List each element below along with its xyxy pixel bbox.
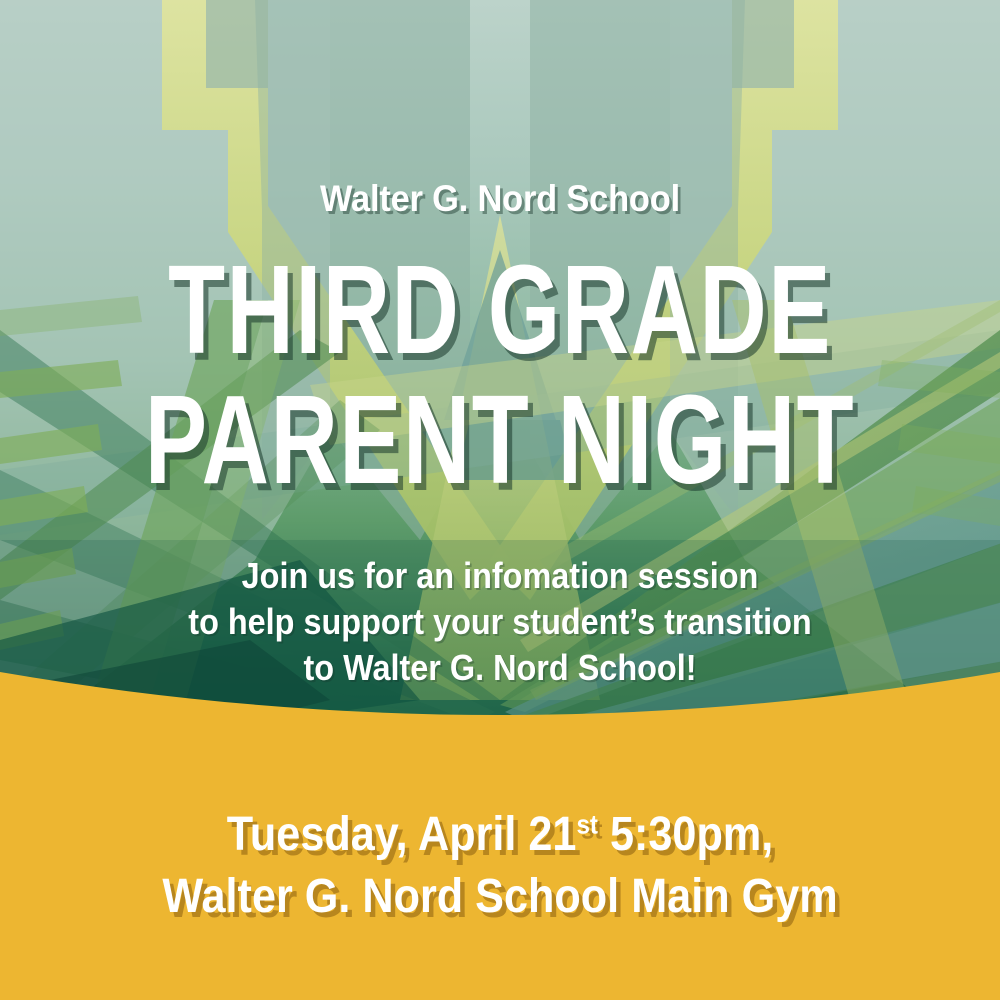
event-time: 5:30pm, — [598, 808, 773, 861]
description-line-1: Join us for an infomation session — [50, 553, 950, 599]
description-line-2: to help support your student’s transitio… — [50, 599, 950, 645]
event-location: Walter G. Nord School Main Gym — [50, 868, 950, 926]
event-flyer: Walter G. Nord School THIRD GRADE PARENT… — [0, 0, 1000, 1000]
event-date: Tuesday, April 21 — [227, 808, 577, 861]
school-name-eyebrow: Walter G. Nord School — [35, 178, 965, 220]
headline-line-1: THIRD GRADE — [130, 252, 870, 368]
event-datetime: Tuesday, April 21st 5:30pm, — [50, 806, 950, 864]
date-ordinal-suffix: st — [576, 809, 598, 839]
description-line-3: to Walter G. Nord School! — [50, 645, 950, 691]
headline-line-2: PARENT NIGHT — [130, 382, 870, 498]
